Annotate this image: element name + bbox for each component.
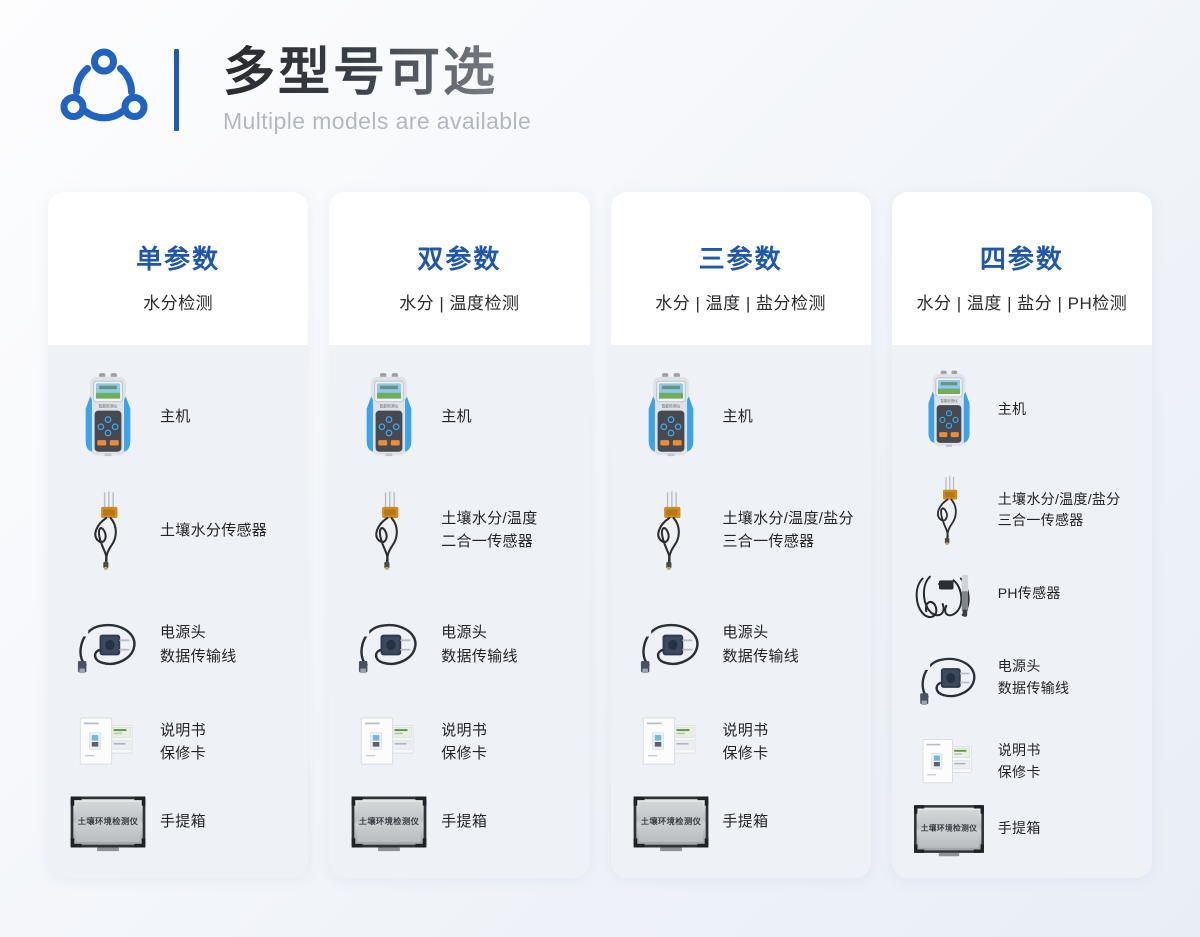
card-header: 单参数 水分检测: [48, 192, 308, 345]
power-adapter-cable-image: [906, 630, 992, 726]
model-card-dual-parameter[interactable]: 双参数 水分 | 温度检测 智能检测仪: [329, 192, 589, 878]
svg-text:智能检测仪: 智能检测仪: [940, 398, 958, 403]
list-item: 智能检测仪 主机: [892, 362, 1152, 458]
item-label: 说明书 保修卡: [441, 719, 487, 766]
card-header: 三参数 水分 | 温度 | 盐分检测: [611, 192, 871, 345]
manual-warranty-card-image: [625, 711, 717, 773]
list-item: 土壤环境检测仪 手提箱: [611, 791, 871, 853]
handheld-meter-image: 智能检测仪: [625, 368, 717, 464]
carry-case-image: 土壤环境检测仪: [343, 791, 435, 853]
list-item: 土壤水分/温度 二合一传感器: [329, 482, 589, 578]
handheld-meter-image: 智能检测仪: [906, 362, 992, 458]
model-card-quad-parameter[interactable]: 四参数 水分 | 温度 | 盐分 | PH检测 智能检: [892, 192, 1152, 878]
item-label: 土壤水分传感器: [160, 519, 267, 542]
list-item: 电源头 数据传输线: [611, 597, 871, 693]
header-divider: [174, 49, 179, 131]
list-item: 说明书 保修卡: [48, 711, 308, 773]
item-label: 说明书 保修卡: [998, 740, 1041, 783]
list-item: 智能检测仪 主机: [48, 368, 308, 464]
list-item: 电源头 数据传输线: [329, 597, 589, 693]
handheld-meter-image: 智能检测仪: [343, 368, 435, 464]
svg-text:土壤环境检测仪: 土壤环境检测仪: [920, 822, 977, 832]
item-label: 主机: [723, 405, 754, 428]
list-item: 土壤环境检测仪 手提箱: [892, 798, 1152, 860]
page-title: 多型号可选: [223, 45, 531, 101]
carry-case-image: 土壤环境检测仪: [62, 791, 154, 853]
card-title: 双参数: [339, 244, 579, 275]
power-adapter-cable-image: [625, 597, 717, 693]
card-subtitle: 水分 | 温度 | 盐分检测: [621, 293, 861, 315]
item-label: 电源头 数据传输线: [160, 621, 237, 668]
card-title: 四参数: [902, 244, 1142, 275]
item-label: 电源头 数据传输线: [723, 621, 800, 668]
manual-warranty-card-image: [906, 731, 992, 793]
item-label: 手提箱: [723, 810, 769, 833]
item-label: 手提箱: [441, 810, 487, 833]
item-label: PH传感器: [998, 583, 1061, 605]
svg-text:智能检测仪: 智能检测仪: [661, 404, 680, 409]
soil-probe-sensor-image: [625, 482, 717, 578]
item-label: 说明书 保修卡: [723, 719, 769, 766]
card-title: 三参数: [621, 244, 861, 275]
soil-probe-sensor-image: [343, 482, 435, 578]
list-item: PH传感器: [892, 563, 1152, 625]
card-subtitle: 水分 | 温度 | 盐分 | PH检测: [902, 293, 1142, 315]
svg-text:土壤环境检测仪: 土壤环境检测仪: [359, 816, 420, 826]
svg-text:智能检测仪: 智能检测仪: [99, 404, 118, 409]
power-adapter-cable-image: [343, 597, 435, 693]
header-text-block: 多型号可选 Multiple models are available: [223, 45, 531, 135]
list-item: 智能检测仪 主机: [611, 368, 871, 464]
card-item-list: 智能检测仪 主机: [892, 345, 1152, 878]
page-header: 多型号可选 Multiple models are available: [58, 44, 531, 136]
soil-probe-sensor-image: [906, 462, 992, 558]
list-item: 土壤环境检测仪 手提箱: [48, 791, 308, 853]
list-item: 说明书 保修卡: [329, 711, 589, 773]
svg-text:土壤环境检测仪: 土壤环境检测仪: [640, 816, 701, 826]
list-item: 说明书 保修卡: [611, 711, 871, 773]
item-label: 土壤水分/温度/盐分 三合一传感器: [998, 489, 1121, 532]
card-header: 双参数 水分 | 温度检测: [329, 192, 589, 345]
item-label: 手提箱: [160, 810, 206, 833]
item-label: 手提箱: [998, 818, 1041, 840]
card-title: 单参数: [58, 244, 298, 275]
handheld-meter-image: 智能检测仪: [62, 368, 154, 464]
list-item: 说明书 保修卡: [892, 731, 1152, 793]
list-item: 土壤水分/温度/盐分 三合一传感器: [892, 462, 1152, 558]
svg-text:智能检测仪: 智能检测仪: [380, 404, 399, 409]
item-label: 土壤水分/温度/盐分 三合一传感器: [723, 507, 854, 554]
ph-sensor-image: [906, 563, 992, 625]
soil-probe-sensor-image: [62, 482, 154, 578]
item-label: 土壤水分/温度 二合一传感器: [441, 507, 537, 554]
item-label: 主机: [441, 405, 472, 428]
item-label: 主机: [998, 399, 1027, 421]
list-item: 土壤水分传感器: [48, 482, 308, 578]
item-label: 说明书 保修卡: [160, 719, 206, 766]
card-subtitle: 水分检测: [58, 293, 298, 315]
item-label: 电源头 数据传输线: [998, 656, 1070, 699]
power-adapter-cable-image: [62, 597, 154, 693]
item-label: 主机: [160, 405, 191, 428]
manual-warranty-card-image: [343, 711, 435, 773]
manual-warranty-card-image: [62, 711, 154, 773]
model-card-single-parameter[interactable]: 单参数 水分检测 智能检测仪: [48, 192, 308, 878]
list-item: 智能检测仪 主机: [329, 368, 589, 464]
list-item: 电源头 数据传输线: [892, 630, 1152, 726]
model-cards-row: 单参数 水分检测 智能检测仪: [48, 192, 1152, 878]
page-subtitle: Multiple models are available: [223, 108, 531, 135]
svg-text:土壤环境检测仪: 土壤环境检测仪: [78, 816, 139, 826]
card-subtitle: 水分 | 温度检测: [339, 293, 579, 315]
item-label: 电源头 数据传输线: [441, 621, 518, 668]
card-item-list: 智能检测仪 主机: [329, 345, 589, 878]
list-item: 土壤水分/温度/盐分 三合一传感器: [611, 482, 871, 578]
list-item: 电源头 数据传输线: [48, 597, 308, 693]
list-item: 土壤环境检测仪 手提箱: [329, 791, 589, 853]
card-item-list: 智能检测仪 主机: [611, 345, 871, 878]
model-card-triple-parameter[interactable]: 三参数 水分 | 温度 | 盐分检测 智能检测仪: [611, 192, 871, 878]
card-header: 四参数 水分 | 温度 | 盐分 | PH检测: [892, 192, 1152, 345]
carry-case-image: 土壤环境检测仪: [625, 791, 717, 853]
card-item-list: 智能检测仪 主机: [48, 345, 308, 878]
three-node-circle-logo-icon: [58, 44, 150, 136]
carry-case-image: 土壤环境检测仪: [906, 798, 992, 860]
